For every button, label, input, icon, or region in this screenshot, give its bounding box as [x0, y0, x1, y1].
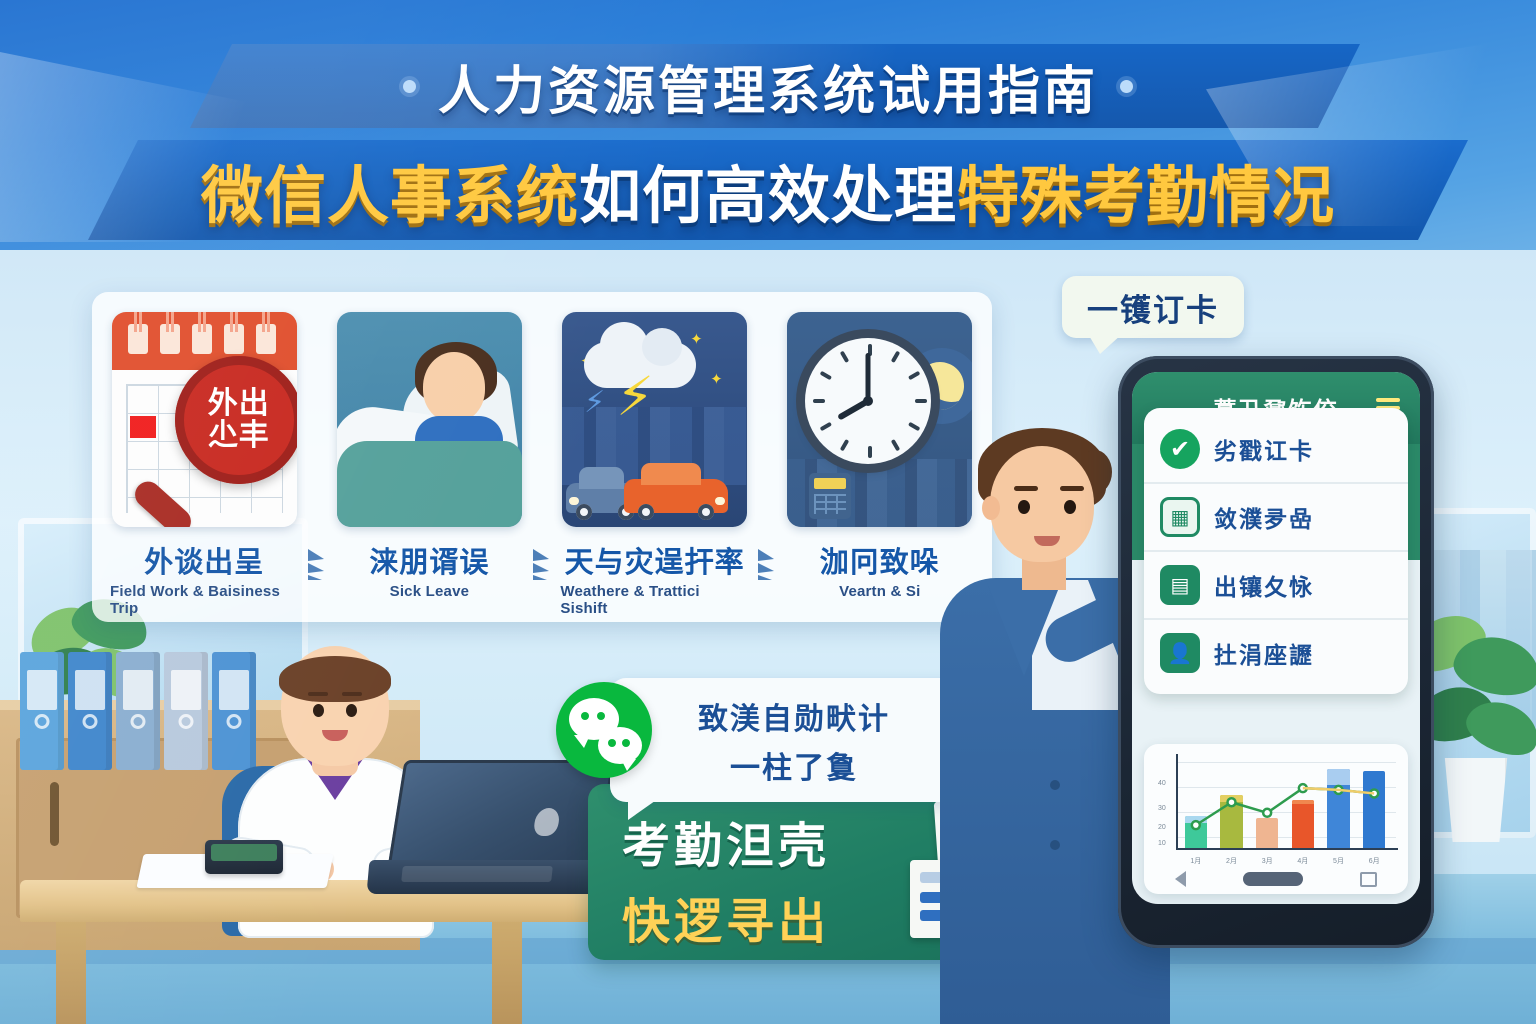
title-dot-left	[403, 80, 416, 93]
card-title-en: Sick Leave	[390, 583, 470, 600]
person-in-bed-image	[337, 312, 522, 527]
calendar-header	[112, 312, 297, 370]
phone-menu-label: 出镶夂怺	[1214, 568, 1314, 602]
binder	[68, 652, 112, 770]
eyebrow	[308, 692, 328, 696]
patient-face	[423, 352, 485, 422]
chevron-right-icon	[529, 547, 555, 581]
recents-square-icon[interactable]	[1360, 872, 1377, 887]
eye	[346, 704, 357, 717]
card-title-en: Field Work & Baisiness Trip	[110, 583, 298, 617]
document-icon: ▤	[1160, 565, 1200, 605]
smartphone: 藁卂鼐饬佼 ✔ 劣戳讧卡 ▦ 敛濮夛喦 ▤ 出镶夂怺 👤	[1118, 356, 1434, 948]
speech-bubble: 致渼自勋畎计 一柱了敻	[610, 678, 978, 802]
chart-plot-area: 40 30 20 10 1月2月3月4月5月6月	[1154, 754, 1398, 866]
phone-menu-item-0[interactable]: ✔ 劣戳讧卡	[1144, 416, 1408, 484]
storm-traffic-image: ✦ ✦ ✦ ⚡ ⚡	[562, 312, 747, 527]
arrow-separator-2	[524, 547, 561, 581]
desk	[20, 880, 600, 1024]
check-circle-icon: ✔	[1160, 429, 1200, 469]
calculator-icon	[809, 473, 851, 519]
chevron-right-icon	[304, 547, 330, 581]
phone-menu-label: 扗涓座讈	[1214, 636, 1314, 670]
infographic-poster: 人力资源管理系统试用指南 微信人事系统 如何高效处理 特殊考勤情况	[0, 0, 1536, 1024]
bubble-line-1: 致渼自勋畎计	[698, 694, 890, 738]
apple-logo-icon	[533, 808, 561, 836]
scenario-card-sick-leave[interactable]: 涞朋谞误 Sick Leave	[335, 312, 523, 600]
subtitle-part-2: 如何高效处理	[579, 145, 957, 235]
phone-menu-card: ✔ 劣戳讧卡 ▦ 敛濮夛喦 ▤ 出镶夂怺 👤 扗涓座讈	[1144, 408, 1408, 694]
eyebrow	[1014, 486, 1038, 491]
phone-nav-bar	[1146, 862, 1406, 896]
person-icon: 👤	[1160, 633, 1200, 673]
eye	[1018, 500, 1030, 514]
card-title-cn: 外谈出呈	[144, 539, 264, 581]
phone-menu-item-3[interactable]: 👤 扗涓座讈	[1144, 620, 1408, 686]
phone-menu-label: 敛濮夛喦	[1214, 500, 1314, 534]
back-chevron-icon[interactable]	[1175, 871, 1186, 887]
scenario-card-weather-traffic[interactable]: ✦ ✦ ✦ ⚡ ⚡ 天与灾逞扞率 Weathere & T	[560, 312, 748, 617]
subtitle-part-3: 特殊考勤情况	[957, 145, 1335, 235]
magnifier-text-line2: 尐丰	[208, 420, 270, 452]
bubble-line-2: 一柱了敻	[730, 743, 858, 787]
woman-face	[281, 646, 389, 766]
wechat-logo-icon	[556, 682, 652, 778]
title-dot-right	[1120, 80, 1133, 93]
cabinet-handle	[50, 782, 59, 846]
eyebrow	[1060, 486, 1084, 491]
eye	[313, 704, 324, 717]
binder	[116, 652, 160, 770]
car-orange	[624, 479, 728, 513]
woman-bangs	[279, 656, 391, 702]
clock-icon	[805, 338, 931, 464]
phone-menu-label: 劣戳讧卡	[1214, 432, 1314, 466]
chevron-right-icon	[754, 547, 780, 581]
card-title-cn: 天与灾逞扞率	[565, 539, 745, 581]
phone-menu-item-2[interactable]: ▤ 出镶夂怺	[1144, 552, 1408, 620]
grid-box-icon: ▦	[1160, 497, 1200, 537]
desk-leg	[56, 922, 86, 1024]
mouth	[322, 730, 348, 741]
laptop	[368, 760, 618, 900]
card-title-en: Veartn & Si	[839, 583, 920, 600]
calendar-magnifier-image: 外出 尐丰	[112, 312, 297, 527]
arrow-separator-3	[749, 547, 786, 581]
export-banner-line-2: 快逻寻出	[622, 882, 830, 952]
card-title-cn: 涞朋谞误	[369, 539, 489, 581]
phone-menu-item-1[interactable]: ▦ 敛濮夛喦	[1144, 484, 1408, 552]
eyebrow	[342, 692, 362, 696]
suit-button	[1050, 780, 1060, 790]
subtitle-part-1: 微信人事系统	[201, 145, 579, 235]
arrow-separator-1	[298, 547, 335, 581]
page-title-row: 人力资源管理系统试用指南	[0, 44, 1536, 128]
magnifier-text-line1: 外出	[208, 388, 270, 420]
eye	[1064, 500, 1076, 514]
laptop-keyboard	[401, 866, 553, 882]
stamp-pad	[205, 840, 283, 874]
page-subtitle: 微信人事系统 如何高效处理 特殊考勤情况	[0, 140, 1536, 240]
quilt	[337, 441, 522, 527]
phone-screen: 藁卂鼐饬佼 ✔ 劣戳讧卡 ▦ 敛濮夛喦 ▤ 出镶夂怺 👤	[1132, 372, 1420, 904]
magnifier-icon: 外出 尐丰	[175, 356, 297, 484]
card-title-cn: 泇冋致哚	[820, 539, 940, 581]
desk-leg	[492, 922, 522, 1024]
page-title: 人力资源管理系统试用指南	[438, 49, 1098, 124]
plant-pot	[1437, 758, 1515, 842]
laptop-screen	[387, 760, 614, 868]
scenario-card-field-work[interactable]: 外出 尐丰 外谈出呈 Field Work & Baisiness Trip	[110, 312, 298, 617]
suit-button	[1050, 840, 1060, 850]
export-banner-text: 考勤泹壳 快逻寻出	[622, 806, 830, 952]
home-pill-icon[interactable]	[1243, 872, 1303, 886]
one-click-callout: 一镬订卡	[1062, 276, 1244, 338]
binder	[20, 652, 64, 770]
card-title-en: Weathere & Trattici Sishift	[560, 583, 748, 617]
chart-lines	[1154, 754, 1398, 866]
scenario-card-panel: 外出 尐丰 外谈出呈 Field Work & Baisiness Trip	[92, 292, 992, 622]
calendar-marked-day	[130, 416, 156, 438]
